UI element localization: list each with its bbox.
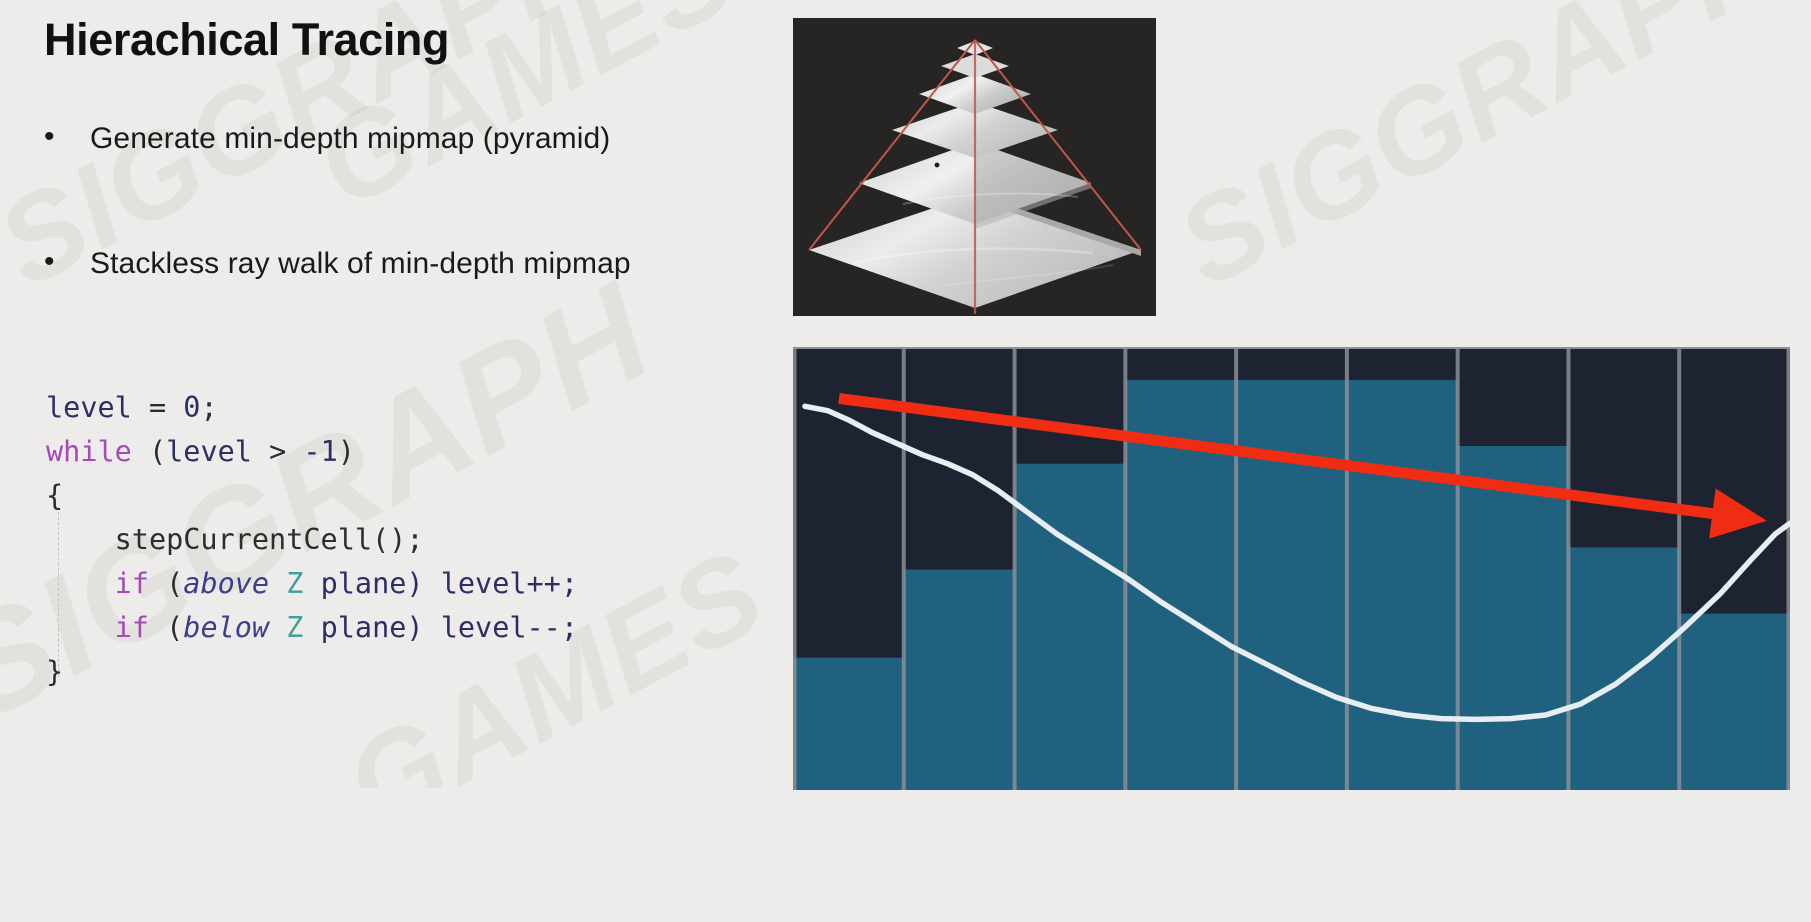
- code-token: above: [183, 567, 269, 600]
- code-token: {: [46, 479, 63, 512]
- code-token: below: [183, 611, 269, 644]
- depth-cell-bar: [904, 570, 1015, 791]
- code-line: while (level > -1): [46, 430, 578, 474]
- code-token: plane): [303, 611, 440, 644]
- code-line: {: [46, 474, 578, 518]
- depth-cell-bar: [1347, 380, 1458, 790]
- watermark-text: SIGGRAPH: [1156, 0, 1800, 314]
- code-token: stepCurrentCell();: [46, 523, 424, 556]
- code-token: if: [115, 567, 149, 600]
- bullet-marker-icon: •: [44, 247, 90, 277]
- depth-chart-svg: [793, 349, 1790, 790]
- code-token: (: [132, 435, 166, 468]
- depth-cell-bar: [793, 658, 904, 790]
- code-line: if (above Z plane) level++;: [46, 562, 578, 606]
- code-token: ;: [200, 391, 217, 424]
- code-token: Z: [286, 611, 303, 644]
- depth-cell-bar: [1679, 614, 1790, 790]
- slide-canvas: SIGGRAPH GAMES SIGGRAPH GAMES SIGGRAPH H…: [0, 0, 1811, 922]
- code-token: }: [46, 655, 63, 688]
- page-title: Hierachical Tracing: [44, 14, 449, 66]
- code-token: level: [166, 435, 252, 468]
- code-token: -1: [303, 435, 337, 468]
- code-token: (: [149, 567, 183, 600]
- bullet-text: Generate min-depth mipmap (pyramid): [90, 122, 610, 156]
- code-line: if (below Z plane) level--;: [46, 606, 578, 650]
- pyramid-svg: [793, 18, 1156, 316]
- code-token: if: [115, 611, 149, 644]
- mipmap-pyramid-image: [793, 18, 1156, 316]
- depth-cell-bar: [1568, 547, 1679, 790]
- code-token: 0: [183, 391, 200, 424]
- code-token: [46, 611, 115, 644]
- depth-cell-bar: [1236, 380, 1347, 790]
- code-token: level--;: [441, 611, 578, 644]
- slide-bottom-strip: [0, 788, 1811, 922]
- code-token: while: [46, 435, 132, 468]
- bullet-item: • Stackless ray walk of min-depth mipmap: [44, 247, 631, 281]
- bullet-text: Stackless ray walk of min-depth mipmap: [90, 247, 631, 281]
- code-line: level = 0;: [46, 386, 578, 430]
- depth-buffer-visualization: [793, 347, 1790, 790]
- code-token: [46, 567, 115, 600]
- code-token: [269, 567, 286, 600]
- code-token: =: [132, 391, 183, 424]
- code-token: ): [338, 435, 355, 468]
- bullet-marker-icon: •: [44, 122, 90, 152]
- code-token: (: [149, 611, 183, 644]
- code-token: Z: [286, 567, 303, 600]
- code-line: stepCurrentCell();: [46, 518, 578, 562]
- code-token: >: [252, 435, 303, 468]
- code-token: [269, 611, 286, 644]
- code-token: plane): [303, 567, 440, 600]
- code-block: level = 0;while (level > -1){ stepCurren…: [46, 386, 578, 694]
- code-token: level++;: [441, 567, 578, 600]
- code-line: }: [46, 650, 578, 694]
- ray-hit-point: [935, 163, 940, 168]
- bullet-item: • Generate min-depth mipmap (pyramid): [44, 122, 610, 156]
- code-token: level: [46, 391, 132, 424]
